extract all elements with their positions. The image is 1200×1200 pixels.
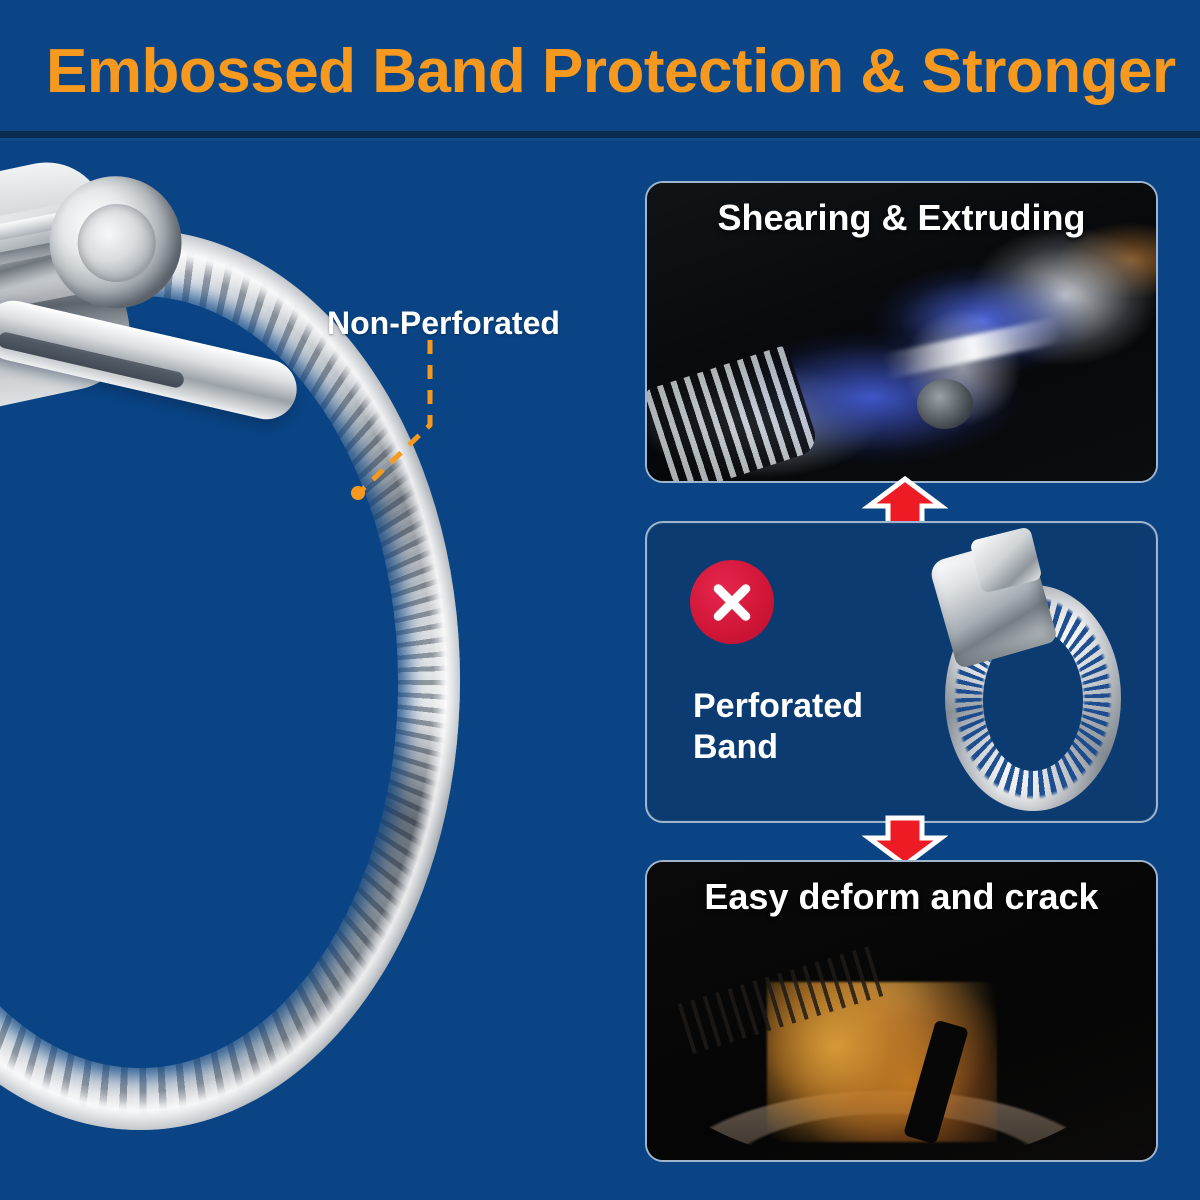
caption-line-2: Band: [693, 727, 863, 768]
panel-easy-deform-and-crack: Easy deform and crack: [645, 860, 1158, 1162]
panel-shearing-extruding: Shearing & Extruding: [645, 181, 1158, 483]
caption-line-1: Perforated: [693, 686, 863, 727]
x-mark-icon: [690, 560, 774, 644]
header-divider: [0, 131, 1200, 138]
header-banner: Embossed Band Protection & Stronger: [0, 0, 1200, 131]
callout-leader-line: [300, 330, 540, 530]
specular-highlight: [882, 317, 1063, 380]
page-title: Embossed Band Protection & Stronger: [46, 36, 1176, 107]
screw-head-detail: [917, 379, 973, 429]
header-divider-highlight: [0, 138, 1200, 141]
infographic-canvas: Embossed Band Protection & Stronger Non-…: [0, 0, 1200, 1200]
perforated-clamp-image: [923, 533, 1143, 823]
clamp-slots-detail: [645, 345, 820, 483]
panel-caption-perforated-band: Perforated Band: [693, 686, 863, 769]
panel-title-easy-deform: Easy deform and crack: [647, 876, 1156, 918]
panel-title-shearing: Shearing & Extruding: [647, 197, 1156, 239]
